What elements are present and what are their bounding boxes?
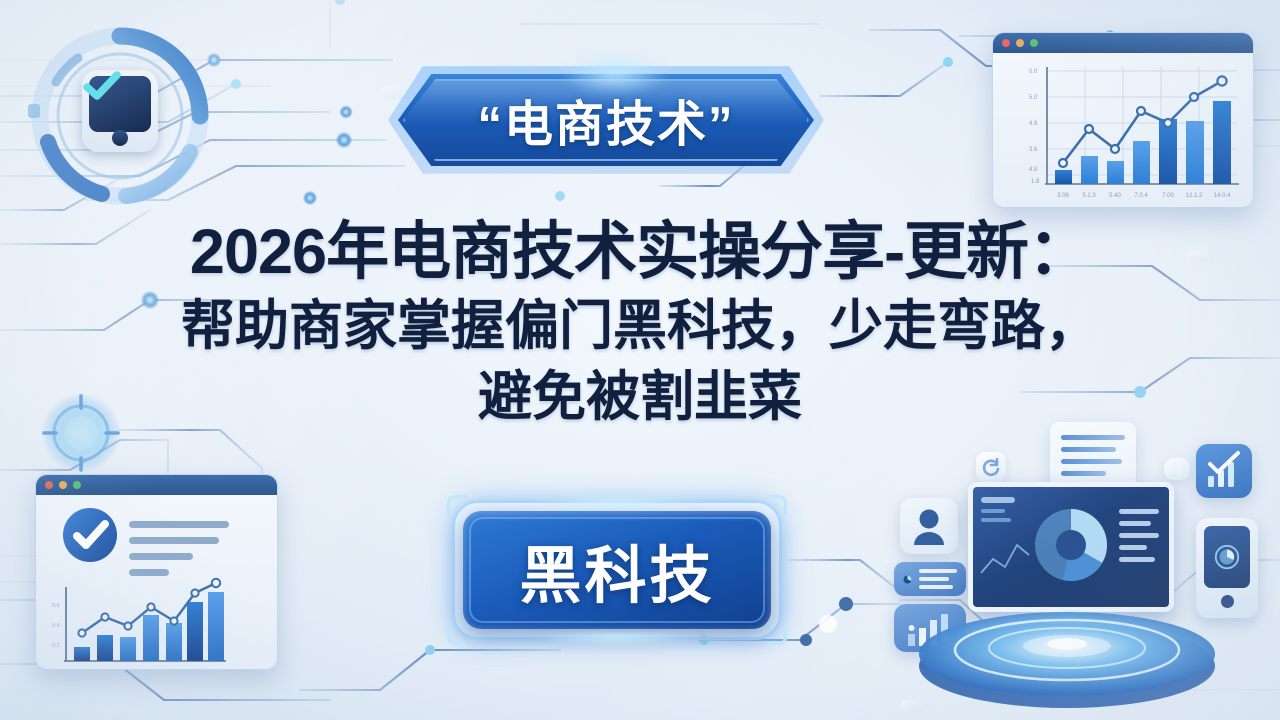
svg-text:0.4: 0.4 xyxy=(52,623,60,629)
window-titlebar xyxy=(993,33,1253,53)
phone-home-button xyxy=(1221,595,1234,608)
check-chart-icon xyxy=(1196,444,1252,498)
headline-line-1: 2026年电商技术实操分享-更新： xyxy=(0,214,1280,290)
svg-text:14.0.4: 14.0.4 xyxy=(1214,193,1231,199)
corner-accent-tr xyxy=(767,495,787,515)
minimize-icon[interactable] xyxy=(59,481,67,489)
window-titlebar xyxy=(36,475,277,495)
svg-text:5.40: 5.40 xyxy=(1109,193,1121,199)
top-right-chart-window: 0.05.0 4.93.6 4.81.8 xyxy=(992,32,1254,208)
dashboard-donut-chart xyxy=(973,487,1169,607)
bar-line-chart: 0.05.0 4.93.6 4.81.8 xyxy=(993,53,1254,208)
user-icon xyxy=(900,498,958,554)
svg-text:5.1.3: 5.1.3 xyxy=(1082,193,1096,199)
mini-line xyxy=(919,577,949,581)
close-icon[interactable] xyxy=(45,481,53,489)
user-tile xyxy=(900,498,958,554)
mini-line xyxy=(919,569,957,573)
corner-accent-bl xyxy=(447,625,467,645)
svg-text:4.9: 4.9 xyxy=(1029,121,1038,127)
close-icon[interactable] xyxy=(1002,39,1010,47)
device-screen xyxy=(89,76,151,132)
smartphone xyxy=(1196,518,1258,618)
minimize-icon[interactable] xyxy=(1016,39,1024,47)
refresh-icon xyxy=(976,452,1006,482)
pie-card xyxy=(894,562,966,596)
corner-accent-br xyxy=(767,625,787,645)
bottom-badge-label: 黑科技 xyxy=(519,525,714,615)
svg-text:0.6: 0.6 xyxy=(52,603,60,609)
check-icon xyxy=(82,70,122,102)
svg-text:5.0: 5.0 xyxy=(1029,95,1038,101)
phone-donut-icon xyxy=(1213,543,1241,571)
svg-text:7.0.4: 7.0.4 xyxy=(1134,193,1148,199)
small-tile xyxy=(1164,458,1190,480)
svg-text:0.0: 0.0 xyxy=(1029,69,1038,75)
corner-accent-tl xyxy=(447,495,467,515)
svg-text:7.00: 7.00 xyxy=(1162,193,1174,199)
sync-tile xyxy=(976,452,1006,482)
phone-screen xyxy=(1204,526,1250,588)
headline-line-2: 帮助商家掌握偏门黑科技，少走弯路， xyxy=(0,290,1280,362)
poster-canvas: 0.05.0 4.93.6 4.81.8 xyxy=(0,0,1280,720)
headline-block: 2026年电商技术实操分享-更新： 帮助商家掌握偏门黑科技，少走弯路， 避免被割… xyxy=(0,214,1280,432)
svg-text:12.1.2: 12.1.2 xyxy=(1186,193,1203,199)
doc-line xyxy=(1061,447,1116,452)
bottom-badge-glow-top xyxy=(532,495,702,509)
doc-line xyxy=(1061,459,1122,464)
bottom-left-report-window: 0.60.40.2 xyxy=(35,474,278,670)
window-content: 0.05.0 4.93.6 4.81.8 xyxy=(993,53,1253,208)
doc-line xyxy=(1061,435,1125,440)
podium-icon xyxy=(902,592,1232,712)
svg-text:3.6: 3.6 xyxy=(1029,147,1038,153)
top-badge-glow xyxy=(560,52,670,96)
tablet-device xyxy=(82,70,158,152)
ring-device-decoration xyxy=(22,18,218,214)
mini-line xyxy=(919,585,953,589)
bottom-badge[interactable]: 黑科技 xyxy=(452,500,782,640)
bottom-badge-glow-bottom xyxy=(532,631,702,645)
verified-report-chart: 0.60.40.2 xyxy=(36,495,278,670)
doc-line xyxy=(1061,471,1106,476)
svg-text:4.8: 4.8 xyxy=(1029,167,1038,173)
svg-text:0.2: 0.2 xyxy=(52,643,60,649)
maximize-icon[interactable] xyxy=(1030,39,1038,47)
pie-card-lines xyxy=(919,569,957,589)
device-home-button xyxy=(112,130,128,146)
headline-line-3: 避免被割韭菜 xyxy=(0,362,1280,432)
pie-chart-icon xyxy=(903,571,912,588)
svg-text:1.8: 1.8 xyxy=(1031,179,1040,185)
window-content: 0.60.40.2 xyxy=(36,495,277,670)
maximize-icon[interactable] xyxy=(73,481,81,489)
svg-text:3.06: 3.06 xyxy=(1057,193,1069,199)
check-chart-tile xyxy=(1196,444,1252,498)
bottom-badge-body: 黑科技 xyxy=(463,511,771,629)
glow-podium xyxy=(902,592,1232,712)
